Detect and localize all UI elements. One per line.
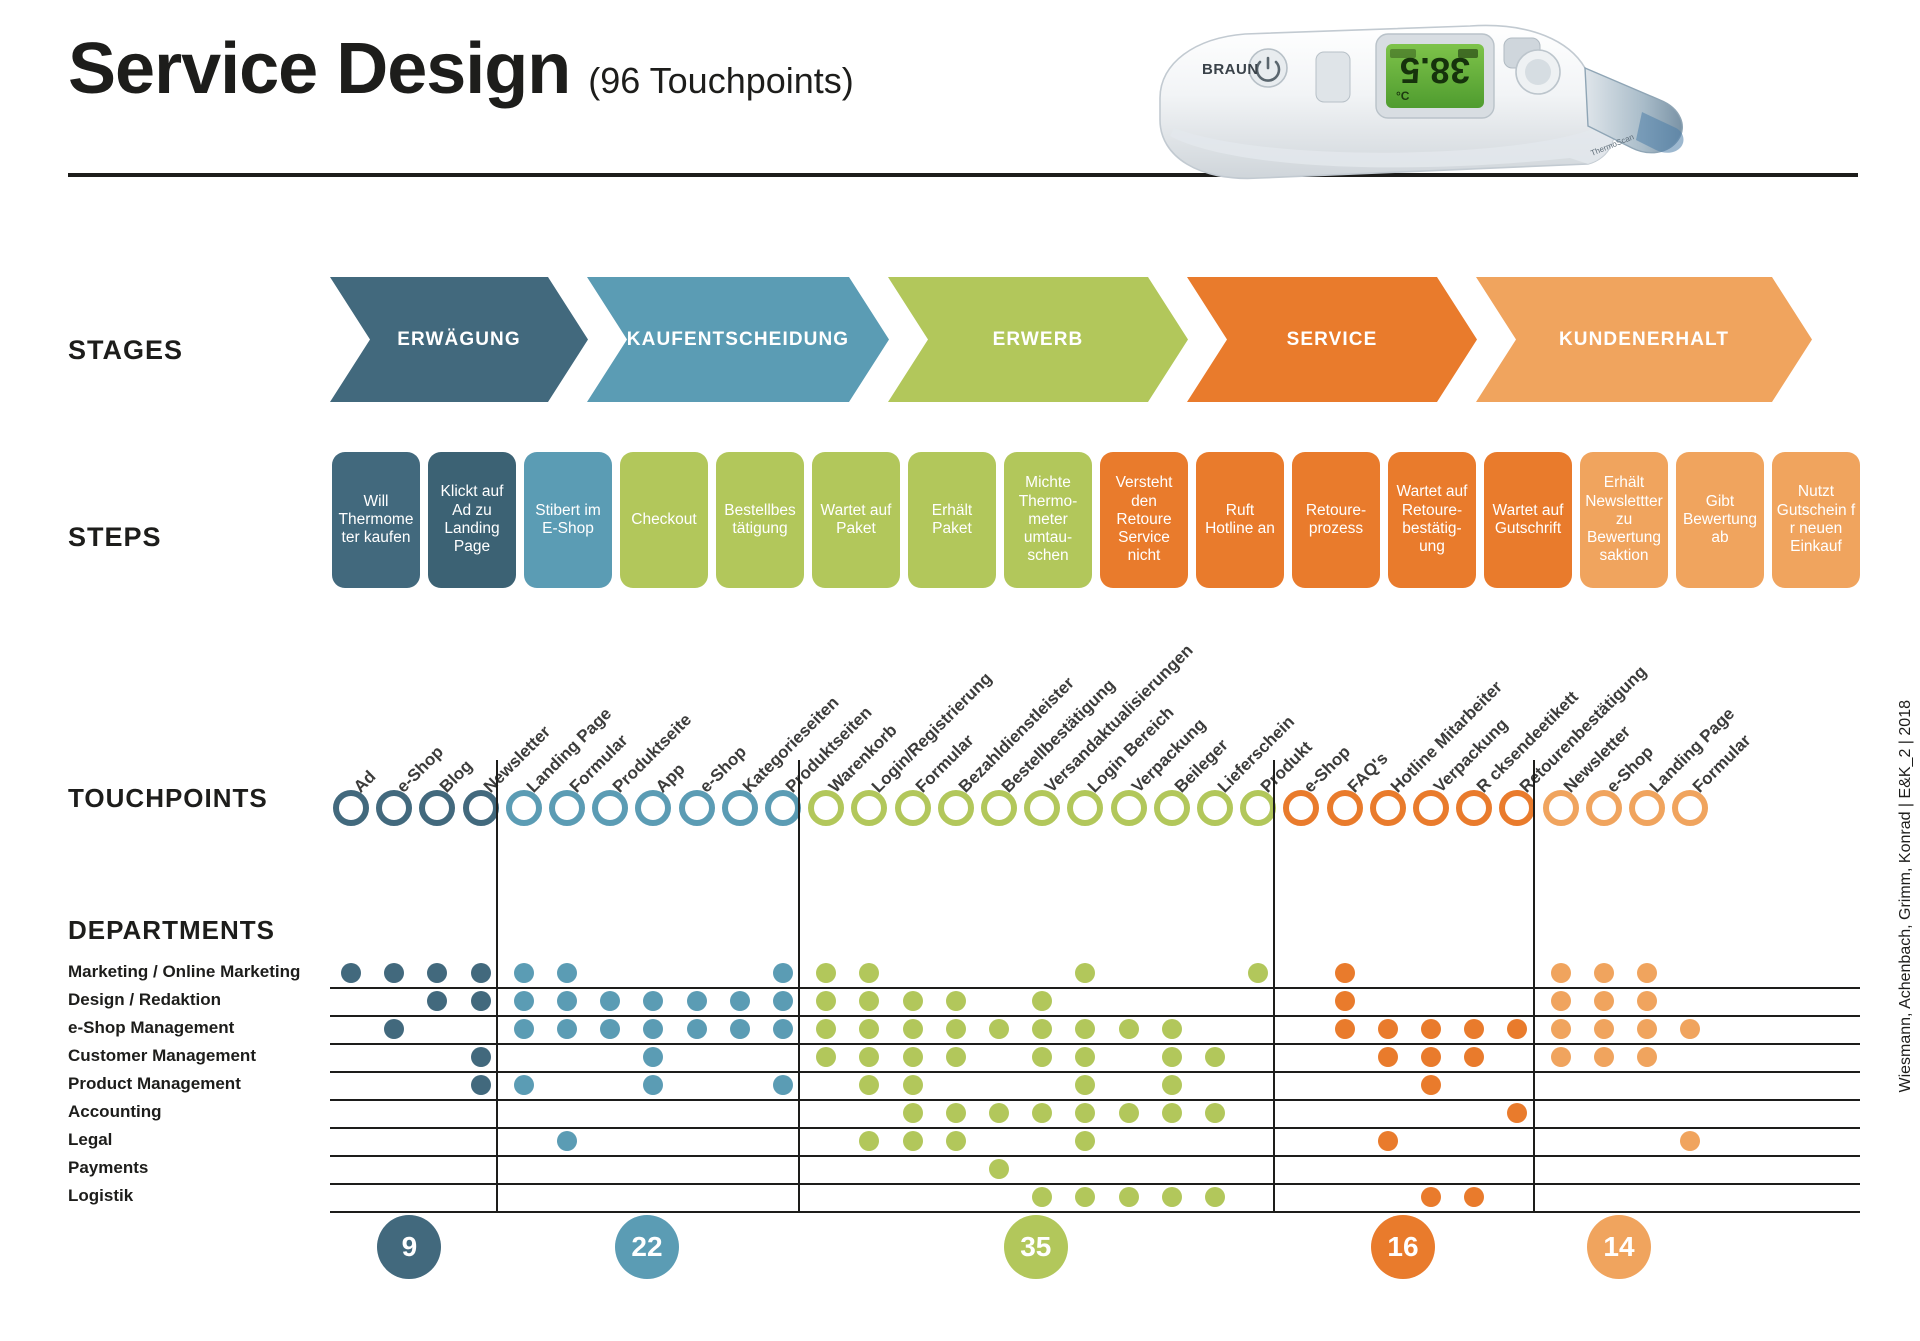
department-touchpoint-dot[interactable] xyxy=(989,1019,1009,1039)
department-touchpoint-dot[interactable] xyxy=(471,963,491,983)
department-touchpoint-dot[interactable] xyxy=(1421,1187,1441,1207)
department-touchpoint-dot[interactable] xyxy=(557,1019,577,1039)
department-name: Customer Management xyxy=(68,1046,256,1066)
department-touchpoint-dot[interactable] xyxy=(1248,963,1268,983)
department-touchpoint-dot[interactable] xyxy=(1421,1019,1441,1039)
department-touchpoint-dot[interactable] xyxy=(687,991,707,1011)
department-touchpoint-dot[interactable] xyxy=(1162,1047,1182,1067)
step-label: Checkout xyxy=(631,511,696,529)
department-touchpoint-dot[interactable] xyxy=(1551,991,1571,1011)
department-row: e-Shop Management xyxy=(0,1016,1920,1044)
department-touchpoint-dot[interactable] xyxy=(903,1131,923,1151)
step-card[interactable]: Gibt Bewertung ab xyxy=(1676,452,1764,588)
stage-label: KAUFENTSCHEIDUNG xyxy=(627,329,849,351)
row-label-departments: DEPARTMENTS xyxy=(68,915,275,946)
step-label: Wartet auf Gutschrift xyxy=(1488,502,1568,539)
department-touchpoint-dot[interactable] xyxy=(1162,1075,1182,1095)
department-touchpoint-dot[interactable] xyxy=(1464,1047,1484,1067)
department-touchpoint-dot[interactable] xyxy=(1162,1103,1182,1123)
step-label: Versteht den Retoure Service nicht xyxy=(1104,474,1184,565)
step-label: Wartet auf Paket xyxy=(816,502,896,539)
step-card[interactable]: Retoure- prozess xyxy=(1292,452,1380,588)
page-header: Service Design (96 Touchpoints) xyxy=(0,0,1920,200)
department-touchpoint-dot[interactable] xyxy=(1507,1019,1527,1039)
department-touchpoint-dot[interactable] xyxy=(903,1075,923,1095)
touchpoints-row: Ade-ShopBlogNewsletterLanding PageFormul… xyxy=(0,600,1920,840)
department-touchpoint-dot[interactable] xyxy=(946,1131,966,1151)
department-touchpoint-dot[interactable] xyxy=(859,1131,879,1151)
department-touchpoint-dot[interactable] xyxy=(816,1019,836,1039)
department-touchpoint-dot[interactable] xyxy=(1464,1019,1484,1039)
step-card[interactable]: Klickt auf Ad zu Landing Page xyxy=(428,452,516,588)
department-row: Payments xyxy=(0,1156,1920,1184)
stage-separator-line xyxy=(1533,960,1535,1212)
department-touchpoint-dot[interactable] xyxy=(514,991,534,1011)
department-touchpoint-dot[interactable] xyxy=(1335,1019,1355,1039)
department-touchpoint-dot[interactable] xyxy=(1205,1047,1225,1067)
department-touchpoint-dot[interactable] xyxy=(903,1047,923,1067)
department-touchpoint-dot[interactable] xyxy=(1119,1103,1139,1123)
department-row: Accounting xyxy=(0,1100,1920,1128)
department-touchpoint-dot[interactable] xyxy=(1421,1075,1441,1095)
row-label-stages: STAGES xyxy=(68,335,183,366)
department-touchpoint-dot[interactable] xyxy=(1594,963,1614,983)
department-touchpoint-dot[interactable] xyxy=(600,1019,620,1039)
stage-label: KUNDENERHALT xyxy=(1559,329,1729,351)
department-touchpoint-dot[interactable] xyxy=(903,1019,923,1039)
department-touchpoint-dot[interactable] xyxy=(1378,1047,1398,1067)
touchpoint-label: e-Shop xyxy=(696,742,751,797)
stage-separator-line xyxy=(1273,960,1275,1212)
department-touchpoint-dot[interactable] xyxy=(1032,991,1052,1011)
page-subtitle: (96 Touchpoints) xyxy=(588,60,854,102)
department-touchpoint-dot[interactable] xyxy=(1594,1047,1614,1067)
step-card[interactable]: Erhält Paket xyxy=(908,452,996,588)
department-touchpoint-dot[interactable] xyxy=(1637,1019,1657,1039)
credit-block: Wiesmann, Achenbach, Grimm, Konrad | E&K… xyxy=(1882,700,1912,1150)
step-card[interactable]: Will Thermome ter kaufen xyxy=(332,452,420,588)
department-row-divider xyxy=(330,1211,1860,1213)
department-touchpoint-dot[interactable] xyxy=(514,963,534,983)
department-touchpoint-dot[interactable] xyxy=(730,991,750,1011)
department-touchpoint-dot[interactable] xyxy=(557,1131,577,1151)
step-card[interactable]: Bestellbes tätigung xyxy=(716,452,804,588)
department-name: Product Management xyxy=(68,1074,241,1094)
department-touchpoint-dot[interactable] xyxy=(1205,1187,1225,1207)
department-touchpoint-dot[interactable] xyxy=(643,991,663,1011)
stage-erwerb[interactable]: ERWERB xyxy=(888,277,1188,402)
department-touchpoint-dot[interactable] xyxy=(687,1019,707,1039)
thermometer-product-image: 38.5 °C BRAUN ThermoScan xyxy=(1140,8,1740,208)
department-touchpoint-dot[interactable] xyxy=(1075,1075,1095,1095)
department-touchpoint-dot[interactable] xyxy=(1075,1187,1095,1207)
departments-matrix: Marketing / Online MarketingDesign / Red… xyxy=(0,960,1920,1212)
step-card[interactable]: Ruft Hotline an xyxy=(1196,452,1284,588)
step-card[interactable]: Wartet auf Paket xyxy=(812,452,900,588)
stage-touchpoint-count: 14 xyxy=(1587,1215,1651,1279)
step-label: Michte Thermo- meter umtau- schen xyxy=(1008,474,1088,565)
department-touchpoint-dot[interactable] xyxy=(1507,1103,1527,1123)
stage-kaufentscheidung[interactable]: KAUFENTSCHEIDUNG xyxy=(587,277,889,402)
stage-erwägung[interactable]: ERWÄGUNG xyxy=(330,277,588,402)
department-touchpoint-dot[interactable] xyxy=(773,1075,793,1095)
department-touchpoint-dot[interactable] xyxy=(1075,1131,1095,1151)
department-touchpoint-dot[interactable] xyxy=(341,963,361,983)
stage-kundenerhalt[interactable]: KUNDENERHALT xyxy=(1476,277,1812,402)
department-touchpoint-dot[interactable] xyxy=(989,1159,1009,1179)
credit-text: Wiesmann, Achenbach, Grimm, Konrad | E&K… xyxy=(1897,700,1915,1093)
stage-touchpoint-count: 35 xyxy=(1004,1215,1068,1279)
department-touchpoint-dot[interactable] xyxy=(816,963,836,983)
step-label: Nutzt Gutschein f r neuen Einkauf xyxy=(1776,483,1856,556)
step-card[interactable]: Versteht den Retoure Service nicht xyxy=(1100,452,1188,588)
step-label: Will Thermome ter kaufen xyxy=(336,493,416,548)
department-touchpoint-dot[interactable] xyxy=(427,991,447,1011)
page-title: Service Design xyxy=(68,28,570,110)
department-touchpoint-dot[interactable] xyxy=(1551,1047,1571,1067)
department-name: Legal xyxy=(68,1130,112,1150)
department-touchpoint-dot[interactable] xyxy=(1637,1047,1657,1067)
step-card[interactable]: Michte Thermo- meter umtau- schen xyxy=(1004,452,1092,588)
step-label: Bestellbes tätigung xyxy=(720,502,800,539)
department-name: Marketing / Online Marketing xyxy=(68,962,300,982)
department-touchpoint-dot[interactable] xyxy=(989,1103,1009,1123)
department-touchpoint-dot[interactable] xyxy=(1594,991,1614,1011)
department-touchpoint-dot[interactable] xyxy=(471,1075,491,1095)
department-touchpoint-dot[interactable] xyxy=(1335,963,1355,983)
department-touchpoint-dot[interactable] xyxy=(1378,1131,1398,1151)
department-name: Accounting xyxy=(68,1102,162,1122)
department-touchpoint-dot[interactable] xyxy=(1421,1047,1441,1067)
department-touchpoint-dot[interactable] xyxy=(514,1019,534,1039)
department-touchpoint-dot[interactable] xyxy=(816,991,836,1011)
department-touchpoint-dot[interactable] xyxy=(1680,1131,1700,1151)
department-row: Marketing / Online Marketing xyxy=(0,960,1920,988)
department-touchpoint-dot[interactable] xyxy=(1162,1019,1182,1039)
step-label: Stibert im E-Shop xyxy=(528,502,608,539)
department-touchpoint-dot[interactable] xyxy=(600,991,620,1011)
stage-label: ERWERB xyxy=(993,329,1084,351)
department-row: Logistik xyxy=(0,1184,1920,1212)
step-label: Erhält Newslettter zu Bewertung saktion xyxy=(1584,474,1664,565)
department-touchpoint-dot[interactable] xyxy=(773,991,793,1011)
step-label: Ruft Hotline an xyxy=(1200,502,1280,539)
department-touchpoint-dot[interactable] xyxy=(903,1103,923,1123)
stage-touchpoint-count: 22 xyxy=(615,1215,679,1279)
step-label: Erhält Paket xyxy=(912,502,992,539)
department-touchpoint-dot[interactable] xyxy=(643,1047,663,1067)
department-touchpoint-dot[interactable] xyxy=(903,991,923,1011)
department-touchpoint-dot[interactable] xyxy=(773,963,793,983)
stage-service[interactable]: SERVICE xyxy=(1187,277,1477,402)
department-touchpoint-dot[interactable] xyxy=(1162,1187,1182,1207)
department-touchpoint-dot[interactable] xyxy=(730,1019,750,1039)
department-touchpoint-dot[interactable] xyxy=(1464,1187,1484,1207)
department-touchpoint-dot[interactable] xyxy=(1032,1047,1052,1067)
row-label-steps: STEPS xyxy=(68,522,162,553)
step-card[interactable]: Erhält Newslettter zu Bewertung saktion xyxy=(1580,452,1668,588)
stage-label: SERVICE xyxy=(1287,329,1378,351)
department-name: Logistik xyxy=(68,1186,133,1206)
stage-counters: 922351614 xyxy=(0,1215,1920,1305)
department-touchpoint-dot[interactable] xyxy=(1075,1019,1095,1039)
step-label: Gibt Bewertung ab xyxy=(1680,493,1760,548)
department-touchpoint-dot[interactable] xyxy=(1032,1019,1052,1039)
department-touchpoint-dot[interactable] xyxy=(946,1019,966,1039)
department-name: Payments xyxy=(68,1158,148,1178)
department-touchpoint-dot[interactable] xyxy=(1075,1103,1095,1123)
department-touchpoint-dot[interactable] xyxy=(557,963,577,983)
department-name: Design / Redaktion xyxy=(68,990,221,1010)
step-label: Retoure- prozess xyxy=(1296,502,1376,539)
department-touchpoint-dot[interactable] xyxy=(471,991,491,1011)
department-touchpoint-dot[interactable] xyxy=(859,1019,879,1039)
department-touchpoint-dot[interactable] xyxy=(1075,1047,1095,1067)
department-touchpoint-dot[interactable] xyxy=(1075,963,1095,983)
department-row: Product Management xyxy=(0,1072,1920,1100)
department-touchpoint-dot[interactable] xyxy=(859,1075,879,1095)
department-touchpoint-dot[interactable] xyxy=(1119,1019,1139,1039)
department-touchpoint-dot[interactable] xyxy=(946,1103,966,1123)
step-card[interactable]: Wartet auf Gutschrift xyxy=(1484,452,1572,588)
department-touchpoint-dot[interactable] xyxy=(1637,963,1657,983)
department-touchpoint-dot[interactable] xyxy=(1032,1187,1052,1207)
department-touchpoint-dot[interactable] xyxy=(1551,963,1571,983)
svg-text:°C: °C xyxy=(1396,89,1410,103)
department-touchpoint-dot[interactable] xyxy=(816,1047,836,1067)
step-card[interactable]: Wartet auf Retoure- bestätig- ung xyxy=(1388,452,1476,588)
department-name: e-Shop Management xyxy=(68,1018,234,1038)
department-touchpoint-dot[interactable] xyxy=(1335,991,1355,1011)
department-touchpoint-dot[interactable] xyxy=(427,963,447,983)
stages-row: ERWÄGUNGKAUFENTSCHEIDUNGERWERBSERVICEKUN… xyxy=(330,277,1811,402)
title-block: Service Design (96 Touchpoints) xyxy=(68,28,854,110)
department-touchpoint-dot[interactable] xyxy=(384,963,404,983)
step-label: Wartet auf Retoure- bestätig- ung xyxy=(1392,483,1472,556)
department-row: Customer Management xyxy=(0,1044,1920,1072)
stage-touchpoint-count: 16 xyxy=(1371,1215,1435,1279)
department-touchpoint-dot[interactable] xyxy=(643,1019,663,1039)
department-touchpoint-dot[interactable] xyxy=(946,1047,966,1067)
svg-text:BRAUN: BRAUN xyxy=(1202,61,1259,78)
department-touchpoint-dot[interactable] xyxy=(557,991,577,1011)
department-touchpoint-dot[interactable] xyxy=(1680,1019,1700,1039)
department-touchpoint-dot[interactable] xyxy=(1205,1103,1225,1123)
department-touchpoint-dot[interactable] xyxy=(1119,1187,1139,1207)
department-touchpoint-dot[interactable] xyxy=(643,1075,663,1095)
department-touchpoint-dot[interactable] xyxy=(946,991,966,1011)
step-card[interactable]: Checkout xyxy=(620,452,708,588)
stage-label: ERWÄGUNG xyxy=(397,329,521,351)
stage-separator-line xyxy=(798,960,800,1212)
department-touchpoint-dot[interactable] xyxy=(1551,1019,1571,1039)
step-card[interactable]: Stibert im E-Shop xyxy=(524,452,612,588)
department-touchpoint-dot[interactable] xyxy=(859,991,879,1011)
department-touchpoint-dot[interactable] xyxy=(514,1075,534,1095)
department-touchpoint-dot[interactable] xyxy=(859,963,879,983)
department-touchpoint-dot[interactable] xyxy=(1378,1019,1398,1039)
department-row: Legal xyxy=(0,1128,1920,1156)
department-touchpoint-dot[interactable] xyxy=(1594,1019,1614,1039)
touchpoint-label: e-Shop xyxy=(393,742,448,797)
department-touchpoint-dot[interactable] xyxy=(1637,991,1657,1011)
stage-touchpoint-count: 9 xyxy=(377,1215,441,1279)
department-touchpoint-dot[interactable] xyxy=(1032,1103,1052,1123)
department-row: Design / Redaktion xyxy=(0,988,1920,1016)
department-touchpoint-dot[interactable] xyxy=(859,1047,879,1067)
department-touchpoint-dot[interactable] xyxy=(384,1019,404,1039)
stage-separator-line xyxy=(496,960,498,1212)
step-label: Klickt auf Ad zu Landing Page xyxy=(432,483,512,556)
department-touchpoint-dot[interactable] xyxy=(773,1019,793,1039)
department-touchpoint-dot[interactable] xyxy=(471,1047,491,1067)
step-card[interactable]: Nutzt Gutschein f r neuen Einkauf xyxy=(1772,452,1860,588)
